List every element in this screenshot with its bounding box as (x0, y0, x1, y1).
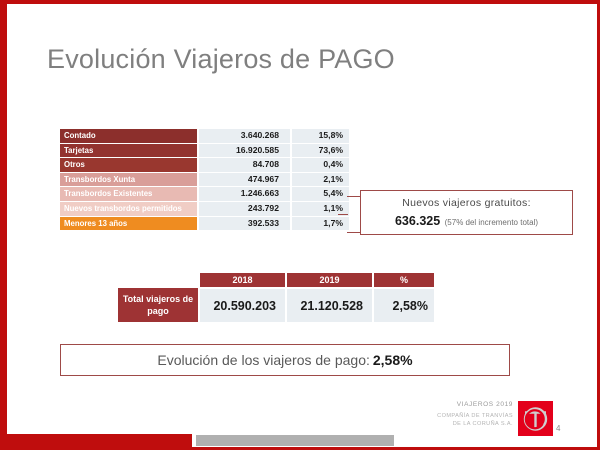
breakdown-value: 392.533 (198, 216, 291, 231)
footer-title: VIAJEROS 2019 (0, 401, 513, 408)
callout-value: 636.325 (395, 214, 440, 228)
breakdown-percent: 15,8% (291, 129, 349, 143)
footer-company-line-1: COMPAÑÍA DE TRANVÍAS (437, 413, 513, 419)
tc-monogram-icon (518, 401, 553, 436)
breakdown-label: Menores 13 años (60, 216, 198, 231)
conclusion-value: 2,58% (373, 352, 413, 368)
breakdown-percent: 73,6% (291, 143, 349, 158)
callout-leader-bracket (347, 196, 361, 233)
totals-value-pct: 2,58% (373, 288, 434, 322)
breakdown-label: Nuevos transbordos permitidos (60, 201, 198, 216)
totals-value-2019: 21.120.528 (286, 288, 373, 322)
table-row: Transbordos Existentes1.246.6635,4% (60, 187, 349, 202)
footer-bar-grey (196, 435, 394, 446)
breakdown-label: Transbordos Xunta (60, 172, 198, 187)
table-row: Tarjetas16.920.58573,6% (60, 143, 349, 158)
table-row: Nuevos transbordos permitidos243.7921,1% (60, 201, 349, 216)
callout-box: Nuevos viajeros gratuitos: 636.325 (57% … (360, 190, 573, 235)
slide-number: 4 (556, 424, 560, 433)
callout-heading: Nuevos viajeros gratuitos: (361, 197, 572, 209)
footer-company-line-2: DE LA CORUÑA S.A. (453, 421, 513, 427)
slide-border-top (0, 0, 600, 4)
breakdown-percent: 0,4% (291, 158, 349, 173)
breakdown-percent: 1,7% (291, 216, 349, 231)
page-title: Evolución Viajeros de PAGO (47, 44, 395, 75)
totals-header-2018: 2018 (199, 273, 286, 288)
totals-header-2019: 2019 (286, 273, 373, 288)
table-row: Transbordos Xunta474.9672,1% (60, 172, 349, 187)
breakdown-table: Contado3.640.26815,8%Tarjetas16.920.5857… (60, 129, 349, 231)
breakdown-label: Tarjetas (60, 143, 198, 158)
breakdown-value: 474.967 (198, 172, 291, 187)
breakdown-value: 84.708 (198, 158, 291, 173)
totals-header-pct: % (373, 273, 434, 288)
breakdown-value: 1.246.663 (198, 187, 291, 202)
breakdown-label: Contado (60, 129, 198, 143)
conclusion-box: Evolución de los viajeros de pago: 2,58% (60, 344, 510, 376)
breakdown-value: 16.920.585 (198, 143, 291, 158)
breakdown-percent: 5,4% (291, 187, 349, 202)
table-row: Menores 13 años392.5331,7% (60, 216, 349, 231)
totals-value-2018: 20.590.203 (199, 288, 286, 322)
breakdown-value: 243.792 (198, 201, 291, 216)
totals-row-label: Total viajeros de pago (118, 288, 199, 322)
company-logo (518, 401, 553, 436)
conclusion-text: Evolución de los viajeros de pago: (157, 352, 369, 368)
totals-header-spacer (118, 273, 199, 288)
footer-bar-red (0, 434, 192, 447)
footer-company: COMPAÑÍA DE TRANVÍAS DE LA CORUÑA S.A. (0, 413, 513, 428)
totals-table: 2018 2019 % Total viajeros de pago 20.59… (118, 273, 434, 322)
breakdown-percent: 2,1% (291, 172, 349, 187)
slide-canvas: Evolución Viajeros de PAGO Contado3.640.… (0, 0, 600, 450)
table-row: Otros84.7080,4% (60, 158, 349, 173)
slide-border-left (0, 0, 7, 450)
breakdown-label: Transbordos Existentes (60, 187, 198, 202)
totals-data-row: Total viajeros de pago 20.590.203 21.120… (118, 288, 434, 322)
callout-note: (57% del incremento total) (445, 218, 538, 227)
breakdown-value: 3.640.268 (198, 129, 291, 143)
totals-header-row: 2018 2019 % (118, 273, 434, 288)
table-row: Contado3.640.26815,8% (60, 129, 349, 143)
breakdown-label: Otros (60, 158, 198, 173)
